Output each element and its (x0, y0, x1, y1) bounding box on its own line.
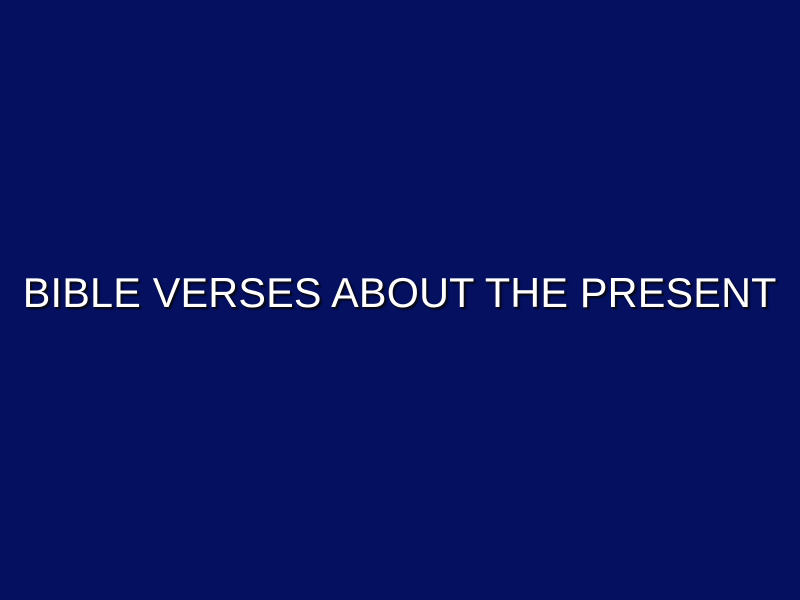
title-block: BIBLE VERSES ABOUT THE PRESENT (0, 243, 800, 343)
page-title: BIBLE VERSES ABOUT THE PRESENT (23, 271, 777, 315)
title-slide: BIBLE VERSES ABOUT THE PRESENT (0, 0, 800, 600)
